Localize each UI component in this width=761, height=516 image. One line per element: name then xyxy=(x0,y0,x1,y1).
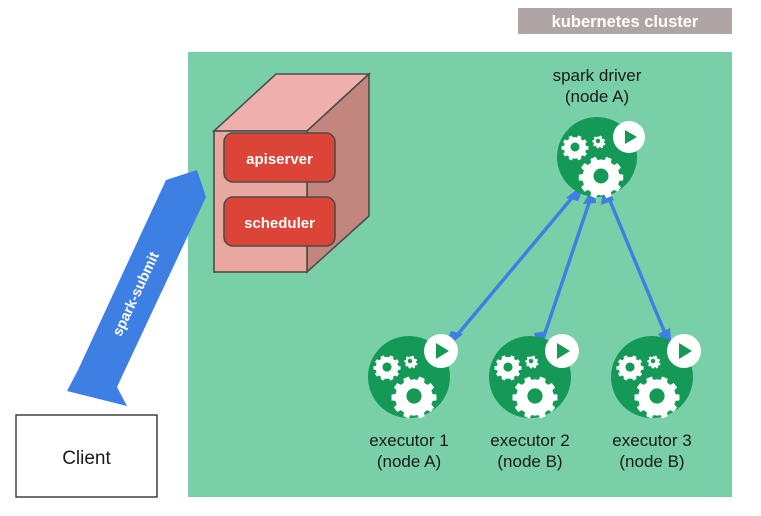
scheduler-label: scheduler xyxy=(244,215,315,232)
play-button-icon[interactable] xyxy=(667,334,701,368)
component-apiserver[interactable]: apiserver xyxy=(224,133,335,182)
play-button-icon[interactable] xyxy=(545,334,579,368)
diagram-canvas: kubernetes cluster apiserver scheduler xyxy=(0,0,761,516)
executor-2-label-line2: (node B) xyxy=(497,452,562,471)
component-scheduler[interactable]: scheduler xyxy=(224,197,335,246)
cluster-label-text: kubernetes cluster xyxy=(552,13,699,31)
executor-3-label-line2: (node B) xyxy=(619,452,684,471)
executor-3-label-line1: executor 3 xyxy=(612,431,691,450)
executor-1-label-line1: executor 1 xyxy=(369,431,448,450)
client-label: Client xyxy=(62,448,111,469)
executor-1-label-line2: (node A) xyxy=(377,452,441,471)
apiserver-label: apiserver xyxy=(246,151,313,168)
play-button-icon[interactable] xyxy=(424,334,458,368)
spark-submit-arrow: spark-submit xyxy=(67,170,206,406)
spark-driver-label-line2: (node A) xyxy=(565,87,629,106)
cluster-label-badge: kubernetes cluster xyxy=(518,8,732,34)
client-box[interactable]: Client xyxy=(16,415,157,497)
play-button-icon[interactable] xyxy=(613,121,645,153)
executor-2-label-line1: executor 2 xyxy=(490,431,569,450)
spark-driver-label-line1: spark driver xyxy=(553,66,642,85)
